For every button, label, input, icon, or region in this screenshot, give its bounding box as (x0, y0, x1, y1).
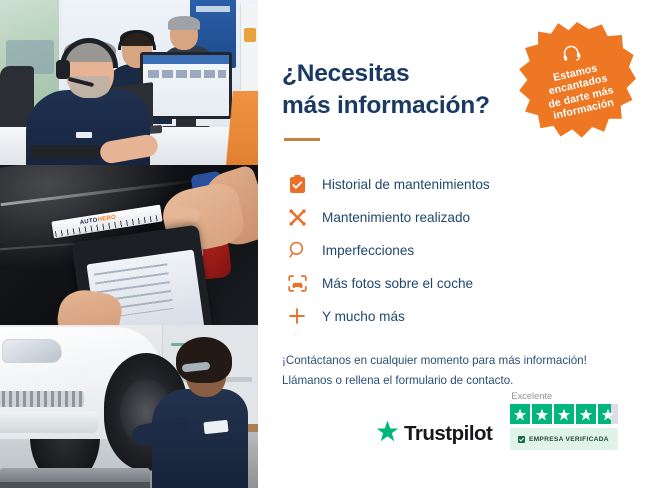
heading-accent-rule (284, 138, 320, 141)
trustpilot-wordmark: Trustpilot (404, 422, 492, 446)
paragraph-line-1: ¡Contáctanos en cualquier momento para m… (282, 351, 624, 371)
clipboard-check-icon (282, 175, 312, 194)
desktop-monitor (140, 52, 232, 119)
promo-banner: AUTOHERO (0, 0, 650, 488)
feature-label: Imperfecciones (322, 243, 414, 258)
trustpilot-block: Trustpilot Excelente (376, 391, 618, 450)
contact-paragraph: ¡Contáctanos en cualquier momento para m… (282, 351, 624, 391)
mechanic-wheel-inspection-photo (0, 325, 258, 488)
feature-item-maintenance-history: Historial de mantenimientos (282, 168, 624, 201)
feature-label: Mantenimiento realizado (322, 210, 470, 225)
car-inspection-ruler-photo: AUTOHERO (0, 165, 258, 325)
feature-label: Y mucho más (322, 309, 405, 324)
info-badge: Estamos encantados de darte más informac… (518, 22, 636, 140)
trustpilot-logo: Trustpilot (376, 420, 492, 447)
star-filled-4 (576, 404, 596, 424)
page-title: ¿Necesitas más información? (282, 58, 532, 122)
mechanic (152, 337, 248, 488)
verified-label: EMPRESA VERIFICADA (529, 436, 609, 443)
feature-item-more-photos: Más fotos sobre el coche (282, 267, 624, 300)
paragraph-line-2: Llámanos o rellena el formulario de cont… (282, 371, 624, 391)
headset-icon (560, 43, 583, 69)
star-partial-5 (598, 404, 618, 424)
rating-label: Excelente (511, 391, 552, 401)
star-filled-2 (532, 404, 552, 424)
content-panel: ¿Necesitas más información? Estamos en (258, 0, 650, 488)
crossed-tools-icon (282, 208, 312, 227)
star-filled-1 (510, 404, 530, 424)
magnifier-icon (282, 241, 312, 259)
feature-label: Historial de mantenimientos (322, 177, 490, 192)
photo-column: AUTOHERO (0, 0, 258, 488)
feature-item-much-more: Y mucho más (282, 300, 624, 333)
car-photo-frame-icon (282, 275, 312, 292)
heading-line-1: ¿Necesitas (282, 60, 409, 87)
verified-business-badge: EMPRESA VERIFICADA (510, 428, 618, 450)
feature-list: Historial de mantenimientos Mantenimient… (282, 168, 624, 333)
verified-check-icon (518, 430, 525, 448)
feature-item-imperfections: Imperfecciones (282, 234, 624, 267)
trustpilot-rating: Excelente (510, 391, 618, 450)
star-filled-3 (554, 404, 574, 424)
heading-line-2: más información? (282, 92, 490, 119)
plus-icon (282, 307, 312, 325)
feature-item-maintenance-done: Mantenimiento realizado (282, 201, 624, 234)
star-rating (510, 404, 618, 424)
call-center-agents-photo (0, 0, 258, 165)
feature-label: Más fotos sobre el coche (322, 276, 473, 291)
trustpilot-star-icon (376, 420, 399, 447)
